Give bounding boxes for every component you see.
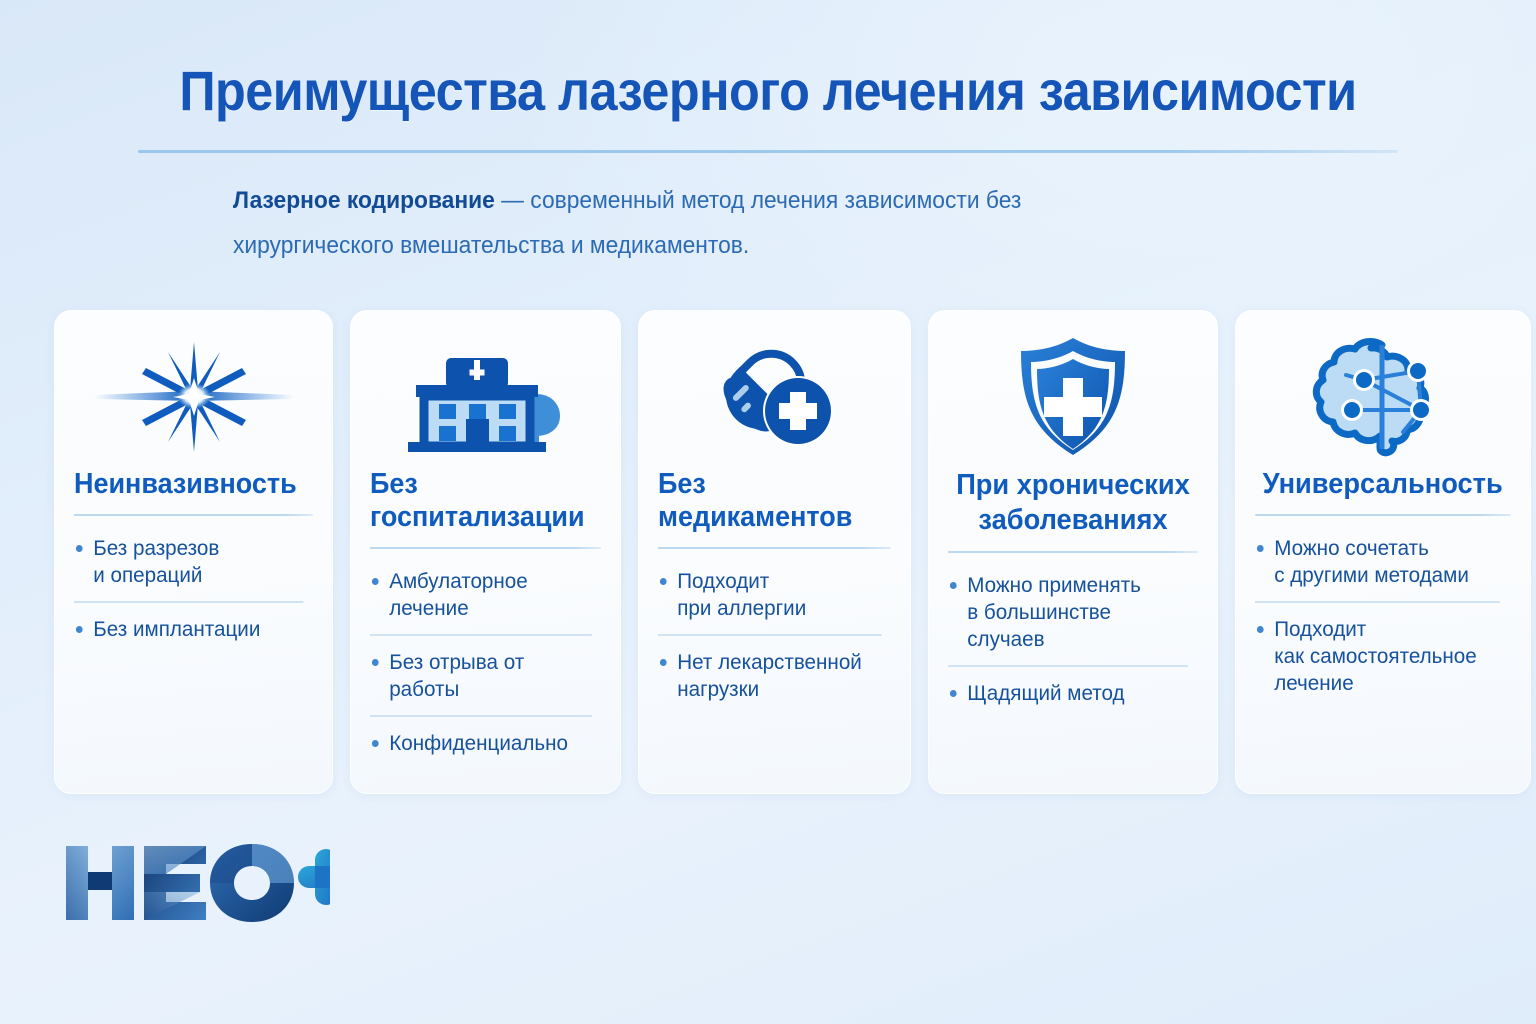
card-title: Без госпитализации	[370, 468, 585, 534]
hospital-building-icon	[370, 332, 601, 462]
brain-network-icon	[1255, 332, 1510, 462]
list-item: Можно применять в большинстве случаев	[948, 559, 1188, 665]
card-bez-gospitalizacii[interactable]: Без госпитализации Амбулаторное лечение …	[350, 310, 621, 794]
list-item: Без отрыва от работы	[370, 634, 591, 715]
bullet-dot-icon	[1257, 626, 1264, 633]
bullet-dot-icon	[660, 578, 667, 585]
list-item: Подходит как самостоятельное лечение	[1255, 601, 1500, 709]
card-divider	[74, 514, 313, 516]
benefit-list: Можно применять в большинстве случаев Ща…	[948, 559, 1198, 719]
card-title: При хронических заболеваниях	[956, 468, 1191, 538]
card-divider	[370, 547, 601, 549]
title-divider	[138, 150, 1398, 153]
list-item: Без разрезов и операций	[74, 522, 304, 601]
card-divider	[658, 547, 891, 549]
card-title: Универсальность	[1263, 468, 1503, 501]
list-item-label: Амбулаторное лечение	[390, 568, 529, 622]
neo-plus-logo[interactable]	[60, 838, 330, 928]
list-item: Подходит при аллергии	[658, 555, 882, 634]
card-title: Без медикаментов	[658, 468, 875, 534]
bullet-dot-icon	[76, 545, 83, 552]
list-item: Без имплантации	[74, 601, 304, 655]
bullet-dot-icon	[76, 626, 83, 633]
shield-cross-icon	[948, 332, 1198, 462]
benefit-cards-row: Неинвазивность Без разрезов и операций Б…	[54, 310, 1482, 794]
benefit-list: Можно сочетать с другими методами Подход…	[1255, 522, 1510, 709]
card-neinvazivnost[interactable]: Неинвазивность Без разрезов и операций Б…	[54, 310, 333, 794]
list-item-label: Нет лекарственной нагрузки	[677, 649, 862, 703]
list-item: Можно сочетать с другими методами	[1255, 522, 1500, 601]
list-item: Конфиденциально	[370, 715, 591, 769]
list-item-label: Конфиденциально	[390, 730, 569, 757]
pill-capsule-cross-icon	[658, 332, 891, 462]
laser-burst-icon	[74, 332, 313, 462]
card-universalnost[interactable]: Универсальность Можно сочетать с другими…	[1235, 310, 1530, 794]
subtitle: Лазерное кодирование — современный метод…	[233, 178, 1136, 268]
card-title: Неинвазивность	[74, 468, 297, 501]
benefit-list: Подходит при аллергии Нет лекарственной …	[658, 555, 891, 715]
list-item: Амбулаторное лечение	[370, 555, 591, 634]
list-item-label: Без отрыва от работы	[390, 649, 592, 703]
bullet-dot-icon	[950, 690, 957, 697]
list-item-label: Можно применять в большинстве случаев	[967, 572, 1188, 653]
card-bez-medikamentov[interactable]: Без медикаментов Подходит при аллергии Н…	[638, 310, 911, 794]
card-divider	[1255, 514, 1510, 516]
list-item-label: Можно сочетать с другими методами	[1274, 535, 1469, 589]
list-item: Щадящий метод	[948, 665, 1188, 719]
subtitle-dash: —	[495, 187, 530, 214]
bullet-dot-icon	[372, 578, 379, 585]
bullet-dot-icon	[372, 740, 379, 747]
list-item-label: Подходит как самостоятельное лечение	[1274, 616, 1477, 697]
bullet-dot-icon	[950, 582, 957, 589]
page-title: Преимущества лазерного лечения зависимос…	[77, 58, 1459, 123]
bullet-dot-icon	[1257, 545, 1264, 552]
card-divider	[948, 551, 1198, 553]
bullet-dot-icon	[372, 659, 379, 666]
list-item-label: Щадящий метод	[967, 680, 1124, 707]
list-item-label: Без разрезов и операций	[93, 535, 219, 589]
benefit-list: Без разрезов и операций Без имплантации	[74, 522, 313, 655]
list-item: Нет лекарственной нагрузки	[658, 634, 882, 715]
bullet-dot-icon	[660, 659, 667, 666]
card-pri-hronicheskih-zabolevaniyah[interactable]: При хронических заболеваниях Можно приме…	[928, 310, 1218, 794]
list-item-label: Без имплантации	[93, 616, 260, 643]
subtitle-strong: Лазерное кодирование	[233, 187, 495, 214]
benefit-list: Амбулаторное лечение Без отрыва от работ…	[370, 555, 601, 769]
list-item-label: Подходит при аллергии	[677, 568, 806, 622]
infographic-page: Преимущества лазерного лечения зависимос…	[0, 0, 1536, 1024]
